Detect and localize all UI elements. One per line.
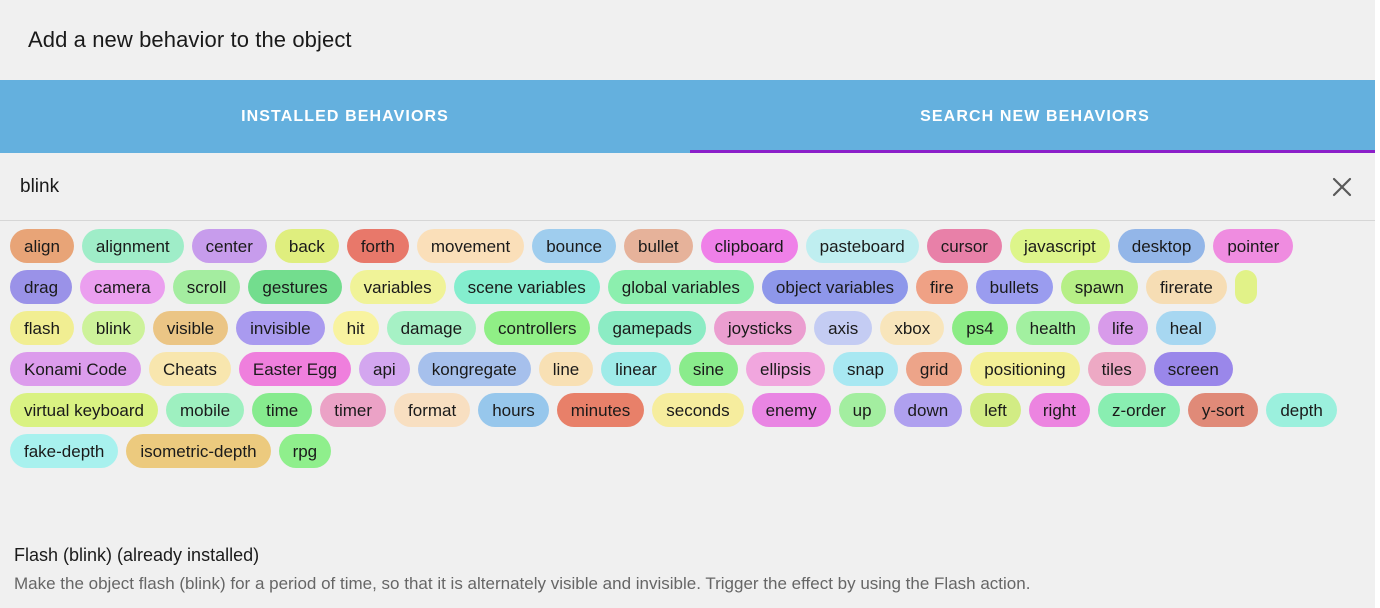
- tag-chip-virtual-keyboard[interactable]: virtual keyboard: [10, 393, 158, 427]
- tag-chip-bullets[interactable]: bullets: [976, 270, 1053, 304]
- tag-chip-left[interactable]: left: [970, 393, 1021, 427]
- tag-chip-grid[interactable]: grid: [906, 352, 962, 386]
- tag-chip-cheats[interactable]: Cheats: [149, 352, 231, 386]
- tag-row: flashblinkvisibleinvisiblehitdamagecontr…: [10, 311, 1370, 345]
- tag-chip-global-variables[interactable]: global variables: [608, 270, 754, 304]
- tag-row: dragcamerascrollgesturesvariablesscene v…: [10, 270, 1370, 304]
- tag-chip-format[interactable]: format: [394, 393, 470, 427]
- tag-chip-camera[interactable]: camera: [80, 270, 165, 304]
- tag-row: virtual keyboardmobiletimetimerformathou…: [10, 393, 1370, 427]
- tab-installed-behaviors[interactable]: INSTALLED BEHAVIORS: [0, 80, 690, 153]
- tag-chip-screen[interactable]: screen: [1154, 352, 1233, 386]
- tag-chip-enemy[interactable]: enemy: [752, 393, 831, 427]
- tag-chip-desktop[interactable]: desktop: [1118, 229, 1206, 263]
- tag-chip-axis[interactable]: axis: [814, 311, 872, 345]
- tag-chip-timer[interactable]: timer: [320, 393, 386, 427]
- tag-chip-linear[interactable]: linear: [601, 352, 671, 386]
- tag-chip-y-sort[interactable]: y-sort: [1188, 393, 1259, 427]
- tab-bar: INSTALLED BEHAVIORSSEARCH NEW BEHAVIORS: [0, 80, 1380, 153]
- tag-chip-object-variables[interactable]: object variables: [762, 270, 908, 304]
- search-input[interactable]: [16, 176, 1320, 198]
- tag-chip-minutes[interactable]: minutes: [557, 393, 645, 427]
- tag-chip-pointer[interactable]: pointer: [1213, 229, 1293, 263]
- tag-chip-spawn[interactable]: spawn: [1061, 270, 1138, 304]
- tag-chip-center[interactable]: center: [192, 229, 267, 263]
- tag-chip-drag[interactable]: drag: [10, 270, 72, 304]
- tag-chip-kongregate[interactable]: kongregate: [418, 352, 531, 386]
- tag-chip-heal[interactable]: heal: [1156, 311, 1216, 345]
- add-behavior-dialog: Add a new behavior to the object INSTALL…: [0, 0, 1380, 608]
- tag-chip-movement[interactable]: movement: [417, 229, 524, 263]
- tag-chip-invisible[interactable]: invisible: [236, 311, 324, 345]
- tag-chip-snap[interactable]: snap: [833, 352, 898, 386]
- tag-chip-back[interactable]: back: [275, 229, 339, 263]
- tab-label: INSTALLED BEHAVIORS: [241, 108, 449, 126]
- tag-chip-scene-variables[interactable]: scene variables: [454, 270, 600, 304]
- tag-chip-flash[interactable]: flash: [10, 311, 74, 345]
- tag-chip-alignment[interactable]: alignment: [82, 229, 184, 263]
- search-row: [0, 153, 1380, 221]
- behavior-result-title: Flash (blink) (already installed): [14, 545, 1366, 566]
- tag-chip-fire[interactable]: fire: [916, 270, 968, 304]
- page-title: Add a new behavior to the object: [28, 27, 352, 53]
- tag-chip-konami-code[interactable]: Konami Code: [10, 352, 141, 386]
- tag-row: fake-depthisometric-depthrpg: [10, 434, 1370, 468]
- tag-chip-life[interactable]: life: [1098, 311, 1148, 345]
- tag-chip-firerate[interactable]: firerate: [1146, 270, 1227, 304]
- tag-chip-gestures[interactable]: gestures: [248, 270, 341, 304]
- tag-cloud: alignalignmentcenterbackforthmovementbou…: [0, 221, 1380, 527]
- tag-chip-javascript[interactable]: javascript: [1010, 229, 1110, 263]
- tag-chip-forth[interactable]: forth: [347, 229, 409, 263]
- tag-chip-z-order[interactable]: z-order: [1098, 393, 1180, 427]
- tag-chip-controllers[interactable]: controllers: [484, 311, 590, 345]
- tag-chip-rpg[interactable]: rpg: [279, 434, 332, 468]
- tag-chip-depth[interactable]: depth: [1266, 393, 1337, 427]
- tag-chip-gamepads[interactable]: gamepads: [598, 311, 705, 345]
- tag-chip-api[interactable]: api: [359, 352, 410, 386]
- tag-chip-ps4[interactable]: ps4: [952, 311, 1007, 345]
- tag-chip-down[interactable]: down: [894, 393, 963, 427]
- tag-chip-bounce[interactable]: bounce: [532, 229, 616, 263]
- tag-chip-isometric-depth[interactable]: isometric-depth: [126, 434, 270, 468]
- tag-chip-sine[interactable]: sine: [679, 352, 738, 386]
- tag-chip-visible[interactable]: visible: [153, 311, 228, 345]
- tag-chip-up[interactable]: up: [839, 393, 886, 427]
- dialog-right-edge: [1375, 0, 1380, 608]
- tag-chip-health[interactable]: health: [1016, 311, 1090, 345]
- tag-chip-clipboard[interactable]: clipboard: [701, 229, 798, 263]
- tag-chip-pasteboard[interactable]: pasteboard: [806, 229, 919, 263]
- tag-chip-empty[interactable]: [1235, 270, 1257, 304]
- tag-chip-ellipsis[interactable]: ellipsis: [746, 352, 825, 386]
- tag-chip-cursor[interactable]: cursor: [927, 229, 1002, 263]
- tag-chip-damage[interactable]: damage: [387, 311, 476, 345]
- behavior-result[interactable]: Flash (blink) (already installed) Make t…: [0, 527, 1380, 608]
- tag-chip-time[interactable]: time: [252, 393, 312, 427]
- tag-chip-xbox[interactable]: xbox: [880, 311, 944, 345]
- tag-chip-hours[interactable]: hours: [478, 393, 549, 427]
- tag-chip-seconds[interactable]: seconds: [652, 393, 743, 427]
- tag-chip-align[interactable]: align: [10, 229, 74, 263]
- tag-chip-line[interactable]: line: [539, 352, 593, 386]
- tag-chip-hit[interactable]: hit: [333, 311, 379, 345]
- tag-chip-bullet[interactable]: bullet: [624, 229, 693, 263]
- dialog-header: Add a new behavior to the object: [0, 0, 1380, 80]
- tag-chip-positioning[interactable]: positioning: [970, 352, 1079, 386]
- tag-chip-tiles[interactable]: tiles: [1088, 352, 1146, 386]
- tag-chip-fake-depth[interactable]: fake-depth: [10, 434, 118, 468]
- tag-chip-blink[interactable]: blink: [82, 311, 145, 345]
- tag-chip-variables[interactable]: variables: [350, 270, 446, 304]
- tag-chip-joysticks[interactable]: joysticks: [714, 311, 806, 345]
- tag-chip-scroll[interactable]: scroll: [173, 270, 241, 304]
- tag-chip-mobile[interactable]: mobile: [166, 393, 244, 427]
- tab-label: SEARCH NEW BEHAVIORS: [920, 108, 1150, 126]
- tag-chip-easter-egg[interactable]: Easter Egg: [239, 352, 351, 386]
- clear-search-button[interactable]: [1320, 165, 1364, 209]
- close-icon: [1331, 176, 1353, 198]
- behavior-result-description: Make the object flash (blink) for a peri…: [14, 573, 1366, 594]
- tag-row: Konami CodeCheatsEaster Eggapikongregate…: [10, 352, 1370, 386]
- tab-search-new-behaviors[interactable]: SEARCH NEW BEHAVIORS: [690, 80, 1380, 153]
- tag-row: alignalignmentcenterbackforthmovementbou…: [10, 229, 1370, 263]
- tag-chip-right[interactable]: right: [1029, 393, 1090, 427]
